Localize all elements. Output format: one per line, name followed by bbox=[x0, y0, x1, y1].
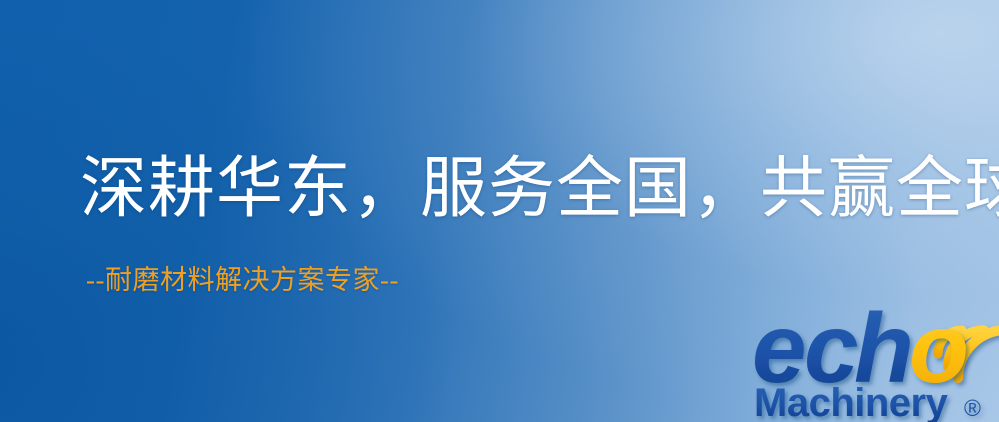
promo-banner: 深耕华东，服务全国，共赢全球 --耐磨材料解决方案专家-- bbox=[0, 0, 999, 422]
echo-machinery-logo[interactable]: e c h o Machinery ® bbox=[752, 296, 999, 422]
registered-trademark-icon: ® bbox=[964, 395, 981, 421]
banner-subtitle: --耐磨材料解决方案专家-- bbox=[86, 263, 399, 297]
logo-tagline: Machinery bbox=[754, 381, 949, 422]
banner-headline: 深耕华东，服务全国，共赢全球 bbox=[80, 150, 960, 228]
logo-svg: e c h o Machinery ® bbox=[752, 296, 999, 422]
